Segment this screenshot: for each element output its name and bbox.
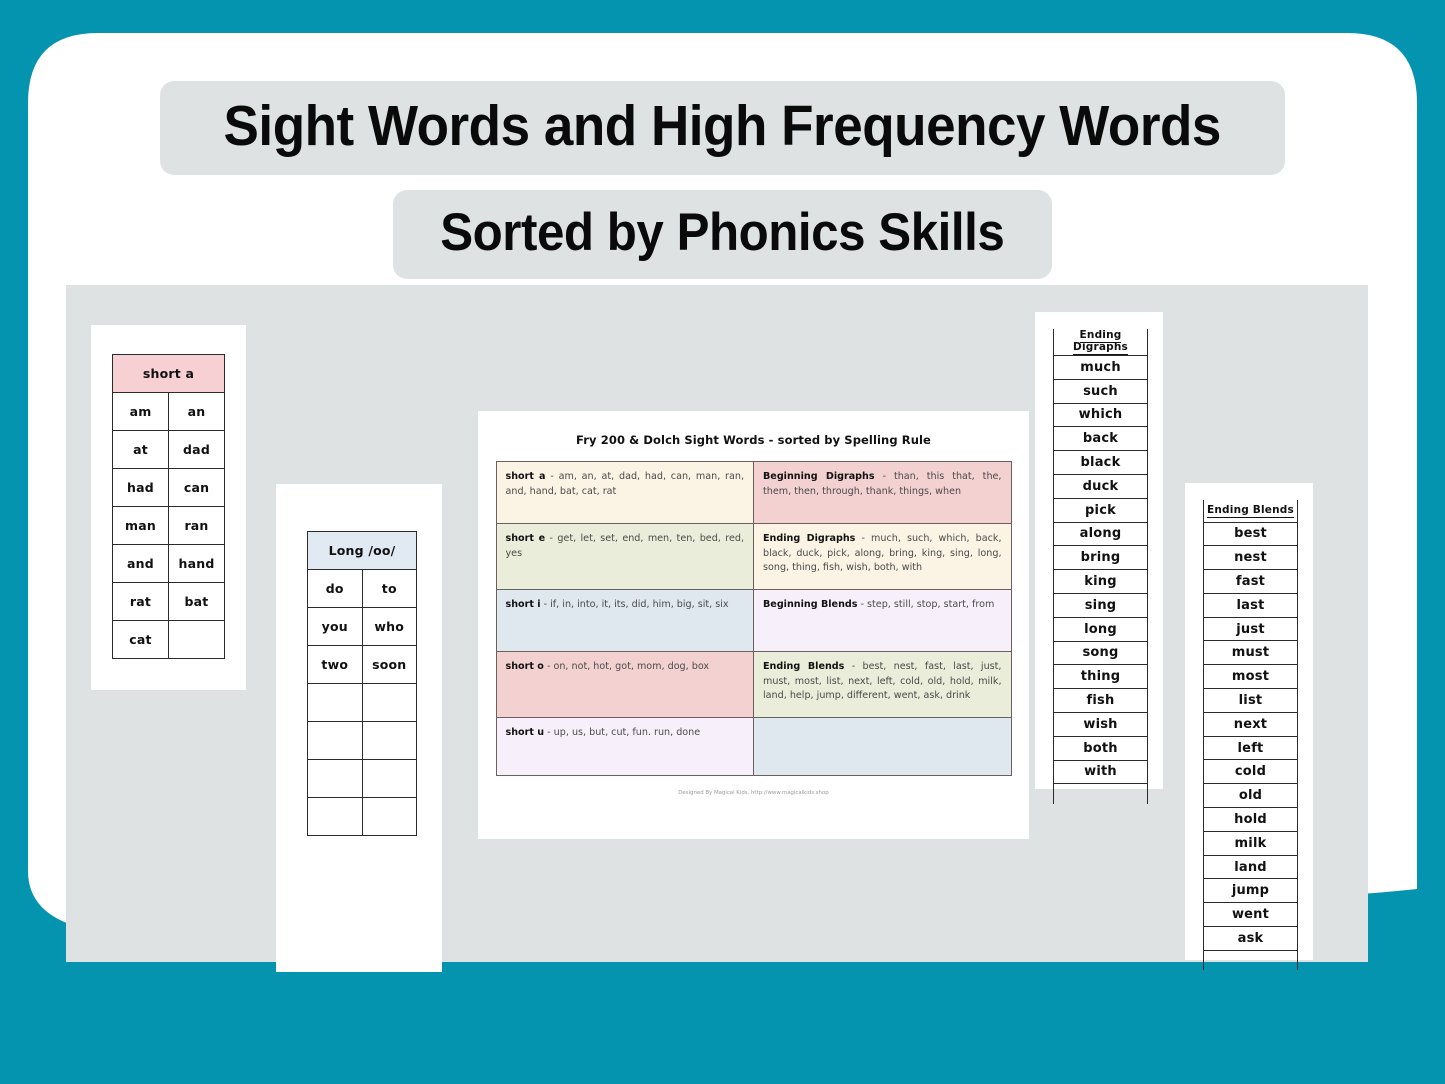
white-card: Sight Words and High Frequency Words Sor… [28, 33, 1417, 1018]
word-cell: two [308, 646, 363, 684]
list-item: wish [1054, 712, 1148, 736]
word-cell [308, 760, 363, 798]
list-item: sing [1054, 593, 1148, 617]
list-item: black [1054, 451, 1148, 475]
table-header-row: Long /oo/ [308, 532, 417, 570]
list-item: king [1054, 570, 1148, 594]
rule-row: short i - if, in, into, it, its, did, hi… [496, 590, 1011, 652]
list-item: fish [1054, 689, 1148, 713]
word-cell: cat [113, 621, 169, 659]
list-item: just [1204, 617, 1298, 641]
rule-label: short i [506, 599, 541, 610]
word-cell: bring [1054, 546, 1148, 570]
designer-credit: Designed By Magical Kids, http://www.mag… [478, 790, 1029, 796]
word-cell: went [1204, 903, 1298, 927]
list-item: best [1204, 522, 1298, 546]
word-cell [308, 722, 363, 760]
word-cell: bat [169, 583, 225, 621]
list-header-cell: Ending Blends [1204, 500, 1298, 522]
list-item: left [1204, 736, 1298, 760]
table-row [308, 760, 417, 798]
ending-digraphs-sheet: Ending Digraphsmuchsuchwhichbackblackduc… [1035, 312, 1163, 789]
word-cell: long [1054, 617, 1148, 641]
word-cell: black [1054, 451, 1148, 475]
list-blank-row [1054, 784, 1148, 804]
word-cell: old [1204, 784, 1298, 808]
rule-row: short e - get, let, set, end, men, ten, … [496, 524, 1011, 590]
subtitle-pill: Sorted by Phonics Skills [393, 190, 1052, 279]
rule-row: short o - on, not, hot, got, mom, dog, b… [496, 652, 1011, 718]
word-cell: back [1054, 427, 1148, 451]
list-header-row: Ending Blends [1204, 500, 1298, 522]
list-item: list [1204, 689, 1298, 713]
word-cell [169, 621, 225, 659]
word-cell: rat [113, 583, 169, 621]
list-header-cell: Ending Digraphs [1054, 329, 1148, 356]
word-cell: jump [1204, 879, 1298, 903]
list-header-row: Ending Digraphs [1054, 329, 1148, 356]
word-cell: song [1054, 641, 1148, 665]
word-cell: duck [1054, 474, 1148, 498]
rule-label: short o [506, 661, 544, 672]
rule-row: short u - up, us, but, cut, fun. run, do… [496, 718, 1011, 776]
list-item: bring [1054, 546, 1148, 570]
word-cell: along [1054, 522, 1148, 546]
list-item: much [1054, 356, 1148, 380]
list-item: thing [1054, 665, 1148, 689]
word-cell: at [113, 431, 169, 469]
list-item: such [1054, 379, 1148, 403]
rule-cell-right: Ending Digraphs - much, such, which, bac… [754, 524, 1012, 590]
list-item: nest [1204, 546, 1298, 570]
rule-cell-left: short e - get, let, set, end, men, ten, … [496, 524, 754, 590]
word-cell: man [113, 507, 169, 545]
word-cell: next [1204, 712, 1298, 736]
list-blank-row [1204, 950, 1298, 970]
spelling-rule-table: short a - am, an, at, dad, had, can, man… [496, 461, 1012, 776]
list-item: most [1204, 665, 1298, 689]
rule-label: Ending Digraphs [763, 533, 855, 544]
word-cell: milk [1204, 831, 1298, 855]
table-row: doto [308, 570, 417, 608]
list-item: long [1054, 617, 1148, 641]
word-cell: most [1204, 665, 1298, 689]
word-cell: fish [1054, 689, 1148, 713]
word-cell: sing [1054, 593, 1148, 617]
main-title-pill: Sight Words and High Frequency Words [160, 81, 1284, 175]
page-subtitle: Sorted by Phonics Skills [440, 202, 1004, 263]
rule-label: Beginning Blends [763, 599, 857, 610]
list-item: old [1204, 784, 1298, 808]
word-cell: last [1204, 593, 1298, 617]
word-cell [362, 798, 417, 836]
word-cell: which [1054, 403, 1148, 427]
list-item: duck [1054, 474, 1148, 498]
word-cell: and [113, 545, 169, 583]
subtitle-row: Sorted by Phonics Skills [28, 175, 1417, 279]
word-cell: dad [169, 431, 225, 469]
word-cell: do [308, 570, 363, 608]
table-row: hadcan [113, 469, 225, 507]
word-cell [308, 684, 363, 722]
word-cell: land [1204, 855, 1298, 879]
word-cell: to [362, 570, 417, 608]
word-cell: must [1204, 641, 1298, 665]
rule-label: short u [506, 727, 545, 738]
blank-cell [1054, 784, 1148, 804]
word-cell: wish [1054, 712, 1148, 736]
table-row [308, 722, 417, 760]
ending-blends-sheet: Ending Blendsbestnestfastlastjustmustmos… [1185, 483, 1313, 960]
rule-row: short a - am, an, at, dad, had, can, man… [496, 462, 1011, 524]
rule-label: Beginning Digraphs [763, 471, 875, 482]
rule-label: short a [506, 471, 546, 482]
word-cell: hold [1204, 808, 1298, 832]
word-cell: pick [1054, 498, 1148, 522]
word-cell: king [1054, 570, 1148, 594]
table-header-row: short a [113, 355, 225, 393]
word-cell: much [1054, 356, 1148, 380]
list-item: next [1204, 712, 1298, 736]
table-row: cat [113, 621, 225, 659]
word-cell: nest [1204, 546, 1298, 570]
word-cell: fast [1204, 570, 1298, 594]
word-cell: had [113, 469, 169, 507]
word-cell [362, 760, 417, 798]
table-header-cell: short a [113, 355, 225, 393]
list-item: ask [1204, 927, 1298, 951]
word-cell: such [1054, 379, 1148, 403]
word-cell: ran [169, 507, 225, 545]
short-a-sheet: short aamanatdadhadcanmanranandhandratba… [91, 325, 246, 690]
list-item: hold [1204, 808, 1298, 832]
list-item: jump [1204, 879, 1298, 903]
word-cell [362, 722, 417, 760]
list-item: both [1054, 736, 1148, 760]
table-row [308, 684, 417, 722]
list-item: which [1054, 403, 1148, 427]
table-row [308, 798, 417, 836]
word-cell: an [169, 393, 225, 431]
word-cell: just [1204, 617, 1298, 641]
word-cell: hand [169, 545, 225, 583]
spelling-rule-sheet: Fry 200 & Dolch Sight Words - sorted by … [478, 411, 1029, 839]
long-oo-sheet: Long /oo/dotoyouwhotwosoon [276, 484, 442, 972]
rule-cell-right: Beginning Blends - step, still, stop, st… [754, 590, 1012, 652]
table-header-cell: Long /oo/ [308, 532, 417, 570]
rule-label: Ending Blends [763, 661, 844, 672]
word-cell [362, 684, 417, 722]
ending-digraphs-table: Ending Digraphsmuchsuchwhichbackblackduc… [1053, 329, 1148, 804]
table-row: manran [113, 507, 225, 545]
list-item: song [1054, 641, 1148, 665]
rule-cell-left: short u - up, us, but, cut, fun. run, do… [496, 718, 754, 776]
word-cell: best [1204, 522, 1298, 546]
rule-cell-right: Ending Blends - best, nest, fast, last, … [754, 652, 1012, 718]
word-cell: who [362, 608, 417, 646]
word-cell: soon [362, 646, 417, 684]
list-item: milk [1204, 831, 1298, 855]
spelling-rule-title: Fry 200 & Dolch Sight Words - sorted by … [478, 433, 1029, 447]
list-item: along [1054, 522, 1148, 546]
word-cell: thing [1054, 665, 1148, 689]
list-item: must [1204, 641, 1298, 665]
word-cell: left [1204, 736, 1298, 760]
list-item: cold [1204, 760, 1298, 784]
table-row: twosoon [308, 646, 417, 684]
short-a-table: short aamanatdadhadcanmanranandhandratba… [112, 354, 225, 659]
page-title: Sight Words and High Frequency Words [224, 93, 1221, 159]
word-cell: list [1204, 689, 1298, 713]
long-oo-table: Long /oo/dotoyouwhotwosoon [307, 531, 417, 836]
table-row: aman [113, 393, 225, 431]
word-cell: both [1054, 736, 1148, 760]
table-row: atdad [113, 431, 225, 469]
word-cell: with [1054, 760, 1148, 784]
list-item: last [1204, 593, 1298, 617]
rule-cell-right [754, 718, 1012, 776]
main-title-row: Sight Words and High Frequency Words [28, 33, 1417, 175]
list-item: with [1054, 760, 1148, 784]
word-cell: cold [1204, 760, 1298, 784]
ending-blends-table: Ending Blendsbestnestfastlastjustmustmos… [1203, 500, 1298, 970]
word-cell [308, 798, 363, 836]
word-cell: can [169, 469, 225, 507]
list-item: land [1204, 855, 1298, 879]
rule-cell-left: short o - on, not, hot, got, mom, dog, b… [496, 652, 754, 718]
list-item: pick [1054, 498, 1148, 522]
list-item: went [1204, 903, 1298, 927]
word-cell: ask [1204, 927, 1298, 951]
list-item: back [1054, 427, 1148, 451]
table-row: andhand [113, 545, 225, 583]
word-cell: am [113, 393, 169, 431]
rule-cell-left: short i - if, in, into, it, its, did, hi… [496, 590, 754, 652]
blank-cell [1204, 950, 1298, 970]
table-row: youwho [308, 608, 417, 646]
rule-label: short e [506, 533, 546, 544]
word-cell: you [308, 608, 363, 646]
rule-cell-right: Beginning Digraphs - than, this that, th… [754, 462, 1012, 524]
list-item: fast [1204, 570, 1298, 594]
table-row: ratbat [113, 583, 225, 621]
rule-cell-left: short a - am, an, at, dad, had, can, man… [496, 462, 754, 524]
